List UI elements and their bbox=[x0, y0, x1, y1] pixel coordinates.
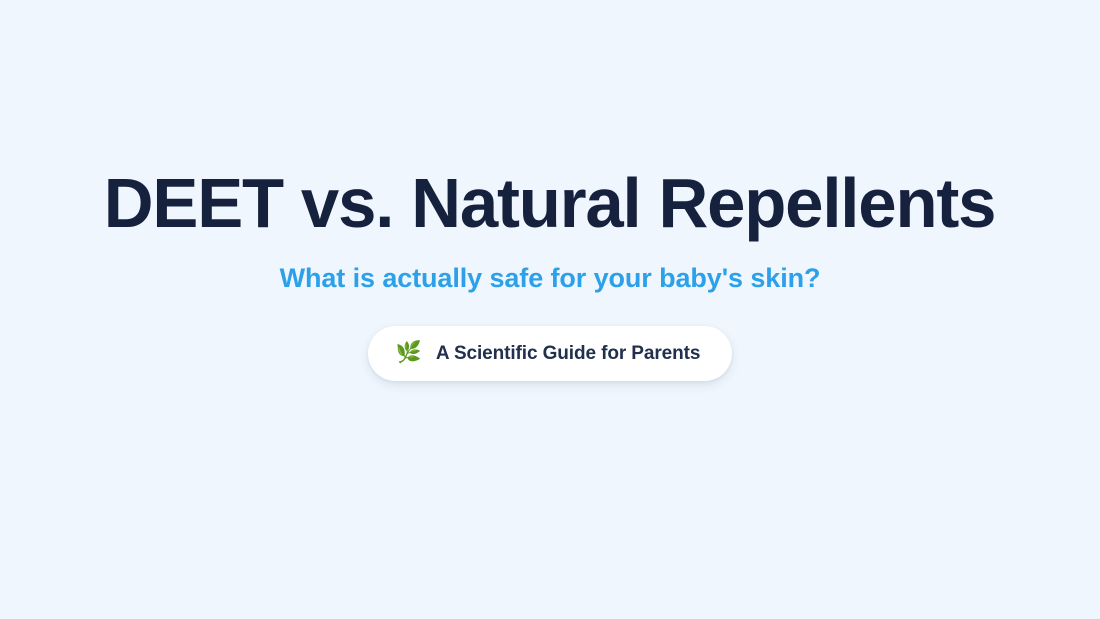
page-title: DEET vs. Natural Repellents bbox=[104, 168, 996, 238]
slide-root: DEET vs. Natural Repellents What is actu… bbox=[0, 0, 1100, 619]
page-subtitle: What is actually safe for your baby's sk… bbox=[280, 265, 821, 292]
hero-section: DEET vs. Natural Repellents What is actu… bbox=[0, 0, 1100, 619]
herb-leaf-icon: 🌿 bbox=[396, 342, 422, 363]
guide-badge-label: A Scientific Guide for Parents bbox=[436, 344, 700, 363]
guide-badge: 🌿 A Scientific Guide for Parents bbox=[368, 326, 733, 381]
